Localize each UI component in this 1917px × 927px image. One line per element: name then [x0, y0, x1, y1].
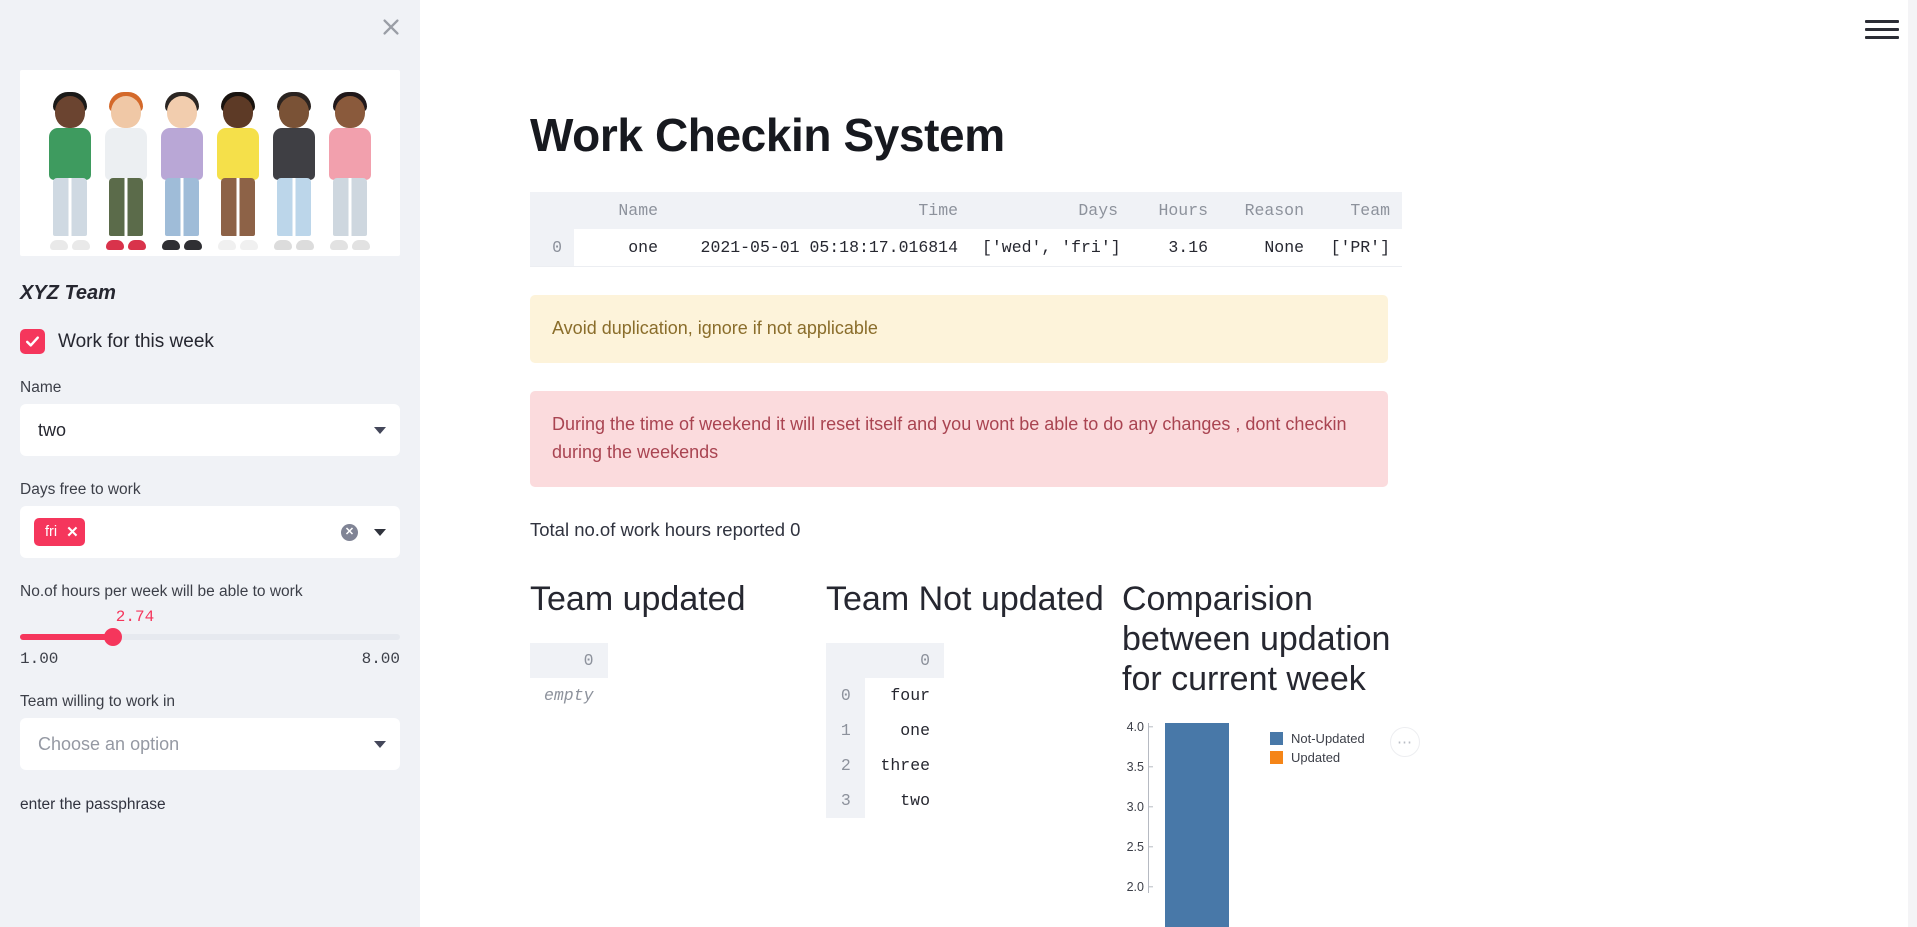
table-header-row: Name Time Days Hours Reason Team [530, 192, 1402, 229]
y-tick-label: 3.0 [1127, 800, 1144, 814]
error-alert: During the time of weekend it will reset… [530, 391, 1388, 487]
name-select[interactable]: two [20, 404, 400, 456]
day-chip-label: fri [45, 524, 57, 540]
legend-label: Updated [1291, 750, 1340, 765]
chart-y-axis: 4.0 3.5 3.0 2.5 2.0 [1122, 723, 1148, 893]
cell-team: ['PR'] [1316, 229, 1402, 267]
y-tick-label: 2.0 [1127, 880, 1144, 894]
hours-slider-fill [20, 634, 113, 640]
hamburger-bar [1865, 20, 1899, 23]
table-row: empty [530, 678, 608, 713]
sidebar: XYZ Team Work for this week Name two Day… [0, 0, 420, 927]
hours-slider-value: 2.74 [0, 608, 400, 626]
table-col-hours: Hours [1130, 192, 1220, 229]
team-updated-col-header: 0 [530, 643, 608, 678]
legend-label: Not-Updated [1291, 731, 1365, 746]
page-title: Work Checkin System [530, 108, 1917, 162]
chart-legend: Not-Updated Updated [1270, 731, 1365, 769]
team-select-placeholder: Choose an option [38, 734, 179, 755]
column-team-not-updated: Team Not updated 0 0 four 1 [826, 579, 1122, 898]
passphrase-label: enter the passphrase [20, 796, 400, 814]
cell-value: one [865, 713, 944, 748]
chevron-down-icon[interactable] [374, 529, 386, 536]
app-root: XYZ Team Work for this week Name two Day… [0, 0, 1917, 927]
legend-item-updated: Updated [1270, 750, 1365, 765]
table-row: 3 two [826, 783, 944, 818]
hours-slider-label: No.of hours per week will be able to wor… [20, 583, 400, 601]
table-row: 0 four [826, 678, 944, 713]
hamburger-bar [1865, 28, 1899, 31]
table-row: 1 one [826, 713, 944, 748]
main-content: Work Checkin System Name Time Days Hours… [420, 0, 1917, 927]
sidebar-team-title: XYZ Team [20, 282, 400, 305]
cell-name: one [574, 229, 670, 267]
close-icon[interactable] [374, 10, 408, 44]
y-tick-label: 3.5 [1127, 760, 1144, 774]
team-updated-table: 0 empty [530, 643, 608, 713]
team-not-updated-col-header: 0 [865, 643, 944, 678]
team-select-label: Team willing to work in [20, 693, 400, 711]
checkbox-label: Work for this week [58, 331, 214, 353]
columns-container: Team updated 0 empty Team Not updated [530, 579, 1917, 898]
team-not-updated-table: 0 0 four 1 one 2 [826, 643, 944, 818]
hours-slider-min: 1.00 [20, 650, 58, 668]
table-row: 0 one 2021-05-01 05:18:17.016814 ['wed',… [530, 229, 1402, 267]
chevron-down-icon [374, 427, 386, 434]
team-illustration [20, 70, 400, 256]
table-col-days: Days [970, 192, 1130, 229]
cell-index: 2 [826, 748, 865, 783]
legend-item-not-updated: Not-Updated [1270, 731, 1365, 746]
checkin-dataframe: Name Time Days Hours Reason Team 0 one 2… [530, 192, 1402, 267]
cell-value: four [865, 678, 944, 713]
checkbox-check-icon [20, 329, 45, 354]
hours-slider-max: 8.00 [362, 650, 400, 668]
cell-time: 2021-05-01 05:18:17.016814 [670, 229, 970, 267]
table-col-team: Team [1316, 192, 1402, 229]
team-updated-title: Team updated [530, 579, 826, 619]
name-field-label: Name [20, 379, 400, 397]
team-not-updated-title: Team Not updated [826, 579, 1122, 619]
chevron-down-icon [374, 741, 386, 748]
cell-index: 3 [826, 783, 865, 818]
cell-value: two [865, 783, 944, 818]
cell-index: 1 [826, 713, 865, 748]
hours-slider[interactable]: 2.74 1.00 8.00 [20, 608, 400, 668]
team-select[interactable]: Choose an option [20, 718, 400, 770]
clear-all-icon[interactable]: ✕ [341, 524, 358, 541]
page-scrollbar[interactable] [1908, 0, 1917, 927]
legend-swatch-icon [1270, 751, 1283, 764]
cell-days: ['wed', 'fri'] [970, 229, 1130, 267]
column-team-updated: Team updated 0 empty [530, 579, 826, 898]
chip-remove-icon[interactable]: ✕ [66, 525, 79, 540]
hamburger-bar [1865, 36, 1899, 39]
column-comparison-chart: Comparision between updation for current… [1122, 579, 1422, 898]
chart-bar-not-updated [1165, 723, 1229, 927]
total-hours-text: Total no.of work hours reported 0 [530, 519, 1917, 541]
y-tick-label: 2.5 [1127, 840, 1144, 854]
hours-slider-thumb[interactable] [104, 628, 122, 646]
table-col-index [530, 192, 574, 229]
team-updated-empty-cell: empty [530, 678, 608, 713]
days-multiselect[interactable]: fri ✕ ✕ [20, 506, 400, 558]
cell-reason: None [1220, 229, 1316, 267]
cell-value: three [865, 748, 944, 783]
table-col-reason: Reason [1220, 192, 1316, 229]
y-tick-label: 4.0 [1127, 720, 1144, 734]
cell-index: 0 [530, 229, 574, 267]
table-col-time: Time [670, 192, 970, 229]
warning-alert: Avoid duplication, ignore if not applica… [530, 295, 1388, 363]
chart-plot-area [1148, 723, 1252, 893]
work-for-this-week-checkbox[interactable]: Work for this week [20, 329, 400, 354]
days-field-label: Days free to work [20, 481, 400, 499]
chart-overflow-menu-icon[interactable]: ⋯ [1390, 727, 1420, 757]
table-row: 2 three [826, 748, 944, 783]
day-chip-fri[interactable]: fri ✕ [34, 518, 85, 546]
name-select-value: two [38, 420, 66, 441]
legend-swatch-icon [1270, 732, 1283, 745]
cell-hours: 3.16 [1130, 229, 1220, 267]
cell-index: 0 [826, 678, 865, 713]
table-col-name: Name [574, 192, 670, 229]
hamburger-menu-icon[interactable] [1865, 12, 1899, 46]
hours-slider-track[interactable] [20, 634, 400, 640]
comparison-chart-title: Comparision between updation for current… [1122, 579, 1422, 699]
comparison-bar-chart: 4.0 3.5 3.0 2.5 2.0 [1122, 723, 1422, 898]
